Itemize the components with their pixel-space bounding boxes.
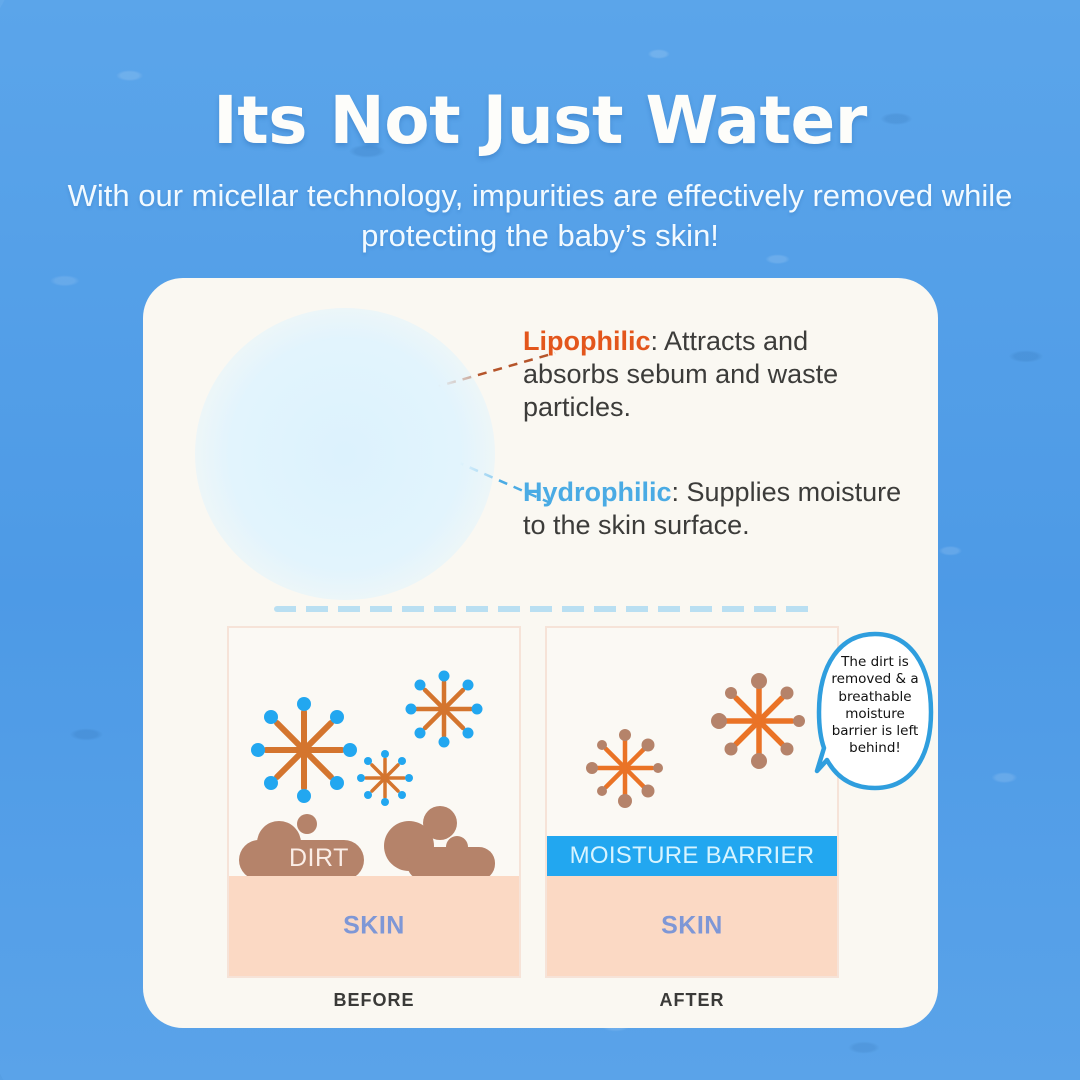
speech-bubble-text: The dirt is removed & a breathable moist…: [829, 654, 921, 758]
callout-lipophilic: Lipophilic: Attracts and absorbs sebum a…: [523, 325, 903, 424]
section-divider: [274, 606, 814, 612]
page-title: Its Not Just Water: [0, 82, 1080, 159]
callout-hydrophilic-keyword: Hydrophilic: [523, 477, 672, 507]
caption-after: AFTER: [545, 990, 839, 1011]
dirt-label: DIRT: [289, 844, 349, 873]
moisture-barrier-band: MOISTURE BARRIER: [547, 836, 837, 876]
caption-before: BEFORE: [227, 990, 521, 1011]
micelle-small-a: [251, 697, 357, 803]
micelle-dirty-a: [711, 673, 805, 769]
page-subtitle: With our micellar technology, impurities…: [60, 176, 1020, 257]
moisture-barrier-label: MOISTURE BARRIER: [570, 842, 815, 870]
panel-before: DIRT SKIN: [227, 626, 521, 978]
micelle-halo: [195, 308, 495, 600]
skin-label-after: SKIN: [547, 912, 837, 941]
panel-after: MOISTURE BARRIER SKIN: [545, 626, 839, 978]
skin-layer-before: SKIN: [229, 876, 519, 976]
micelle-small-b: [406, 671, 483, 748]
skin-label-before: SKIN: [229, 912, 519, 941]
speech-bubble: The dirt is removed & a breathable moist…: [815, 630, 935, 795]
micelle-diagram: [183, 300, 533, 600]
micelle-dirty-b: [586, 729, 663, 808]
content-card: Lipophilic: Attracts and absorbs sebum a…: [143, 278, 938, 1028]
callout-hydrophilic: Hydrophilic: Supplies moisture to the sk…: [523, 476, 913, 542]
micelle-small-c: [357, 750, 413, 806]
callout-lipophilic-keyword: Lipophilic: [523, 326, 651, 356]
skin-layer-after: SKIN: [547, 876, 837, 976]
dirt-clump-right: [384, 806, 495, 880]
